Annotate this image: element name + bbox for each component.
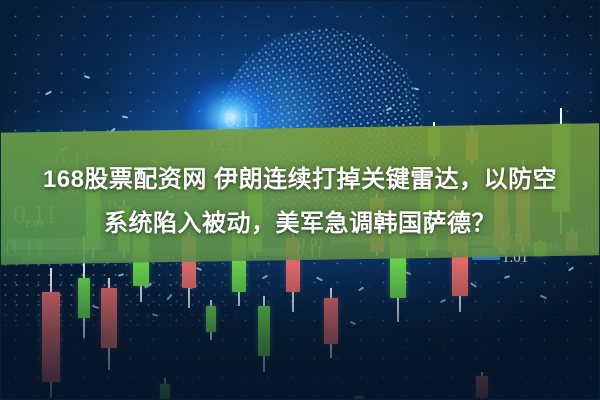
headline-line-2: 系统陷入被动，美军急调韩国萨德？ xyxy=(0,202,600,246)
headline-line-1: 168股票配资网 伊朗连续打掉关键雷达，以防空 xyxy=(43,166,557,193)
headline-text: 168股票配资网 伊朗连续打掉关键雷达，以防空 系统陷入被动，美军急调韩国萨德？ xyxy=(0,158,600,246)
news-banner: 0.110.110.111.011.011.111.011.010.110.21… xyxy=(0,0,600,400)
bottom-vignette xyxy=(0,250,600,400)
